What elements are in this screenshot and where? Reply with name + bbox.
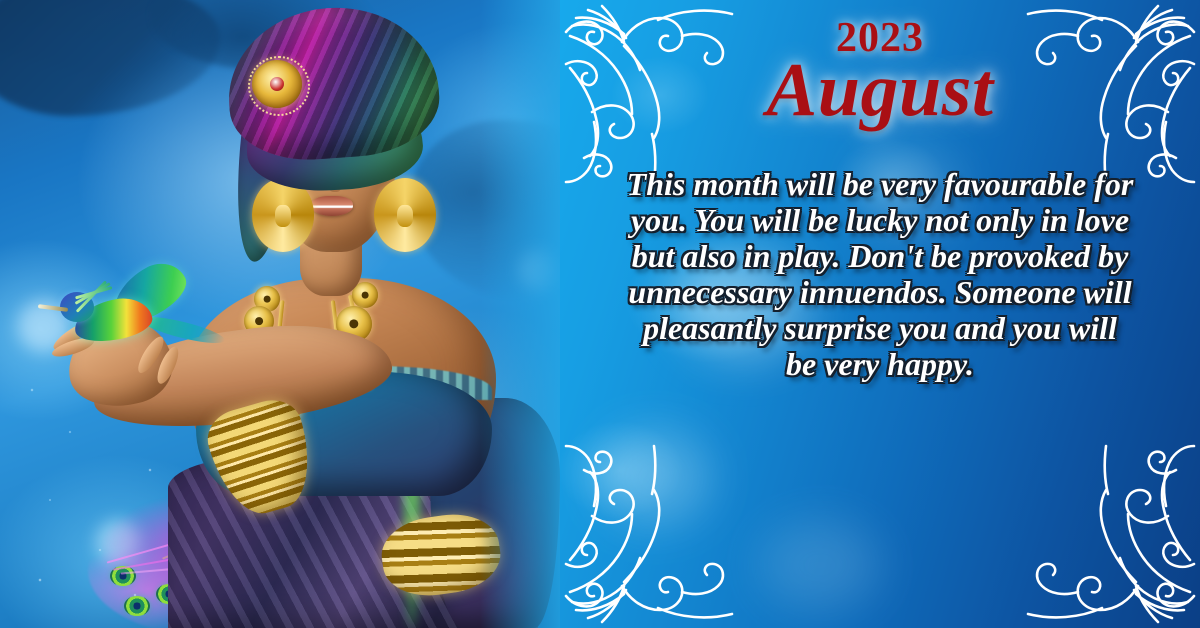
turban-brooch (252, 60, 302, 108)
horoscope-text: This month will be very favourable for y… (626, 166, 1134, 382)
light-spot (760, 520, 880, 610)
hoop-earring-right (374, 178, 436, 252)
corner-flourish-bottom-right-icon (1020, 444, 1198, 626)
horoscope-card: 2023 August This month will be very favo… (0, 0, 1200, 628)
illustration-photo (0, 0, 600, 628)
text-panel: 2023 August This month will be very favo… (560, 0, 1200, 628)
month-title: August (560, 52, 1200, 128)
lips (311, 196, 353, 216)
corner-flourish-bottom-left-icon (562, 444, 740, 626)
